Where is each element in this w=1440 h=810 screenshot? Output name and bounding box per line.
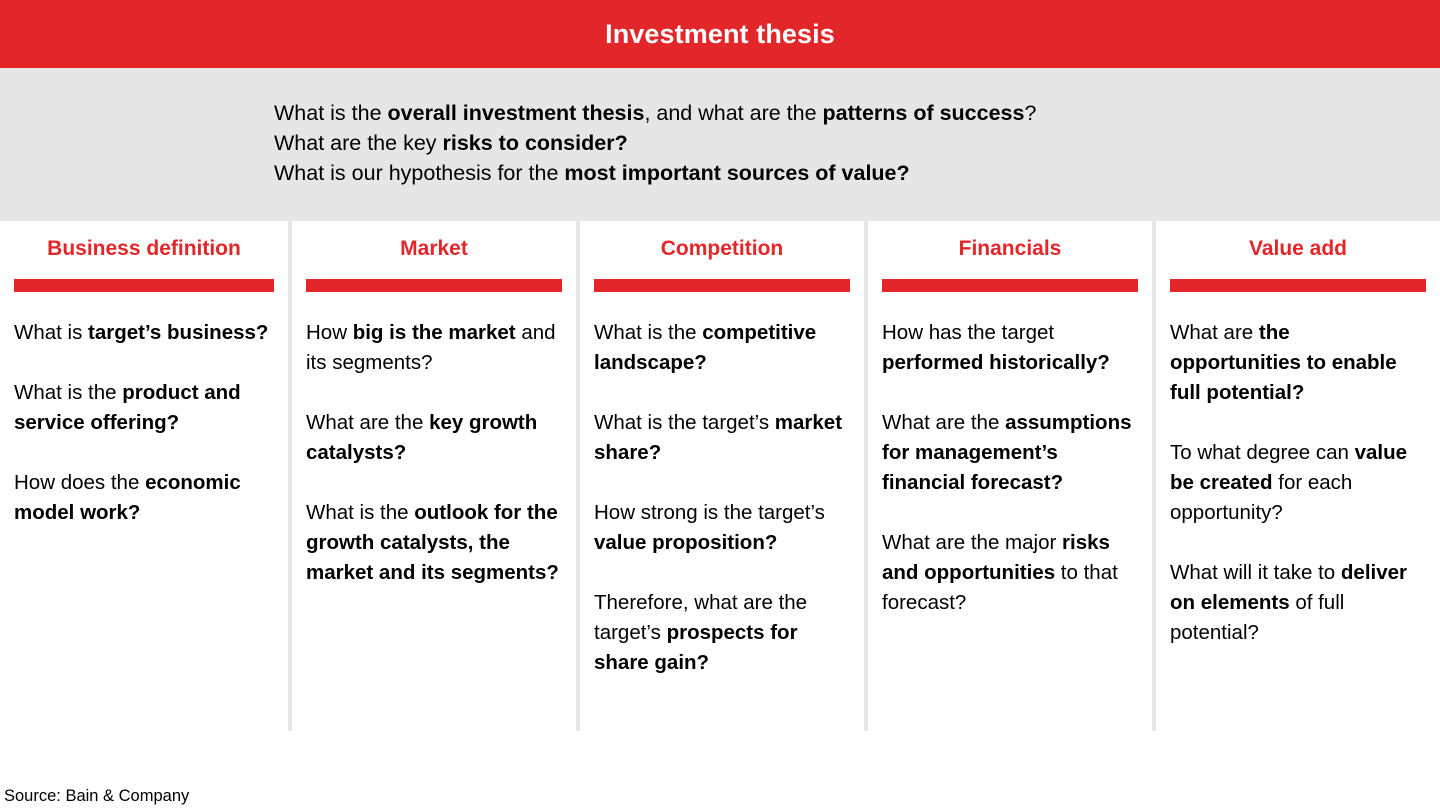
column-header: Market	[306, 221, 562, 277]
intro-question-line: What is our hypothesis for the most impo…	[274, 158, 1274, 188]
plain-text: What is the target’s	[594, 411, 775, 434]
framework-columns: Business definitionWhat is target’s busi…	[0, 221, 1440, 731]
column-question-item: Therefore, what are the target’s prospec…	[594, 588, 850, 678]
column-title: Business definition	[47, 237, 241, 260]
plain-text: How strong is the target’s	[594, 501, 825, 524]
plain-text: ?	[1024, 101, 1036, 125]
column-header: Value add	[1170, 221, 1426, 277]
column-question-list: What are the opportunities to enable ful…	[1170, 292, 1426, 648]
emphasis-text: patterns of success	[823, 101, 1025, 125]
plain-text: What are	[1170, 321, 1259, 344]
column-question-item: What is the product and service offering…	[14, 378, 274, 438]
column-title: Financials	[959, 237, 1062, 260]
emphasis-text: risks to consider?	[443, 131, 628, 155]
column-question-list: How has the target performed historicall…	[882, 292, 1138, 618]
framework-column-business-definition: Business definitionWhat is target’s busi…	[0, 221, 288, 731]
column-question-item: What are the assumptions for management’…	[882, 408, 1138, 498]
emphasis-text: big is the market	[353, 321, 516, 344]
plain-text: To what degree can	[1170, 441, 1355, 464]
column-inner: Value addWhat are the opportunities to e…	[1156, 221, 1440, 648]
intro-question-list: What is the overall investment thesis, a…	[274, 98, 1274, 188]
column-inner: CompetitionWhat is the competitive lands…	[580, 221, 864, 678]
column-question-item: How big is the market and its segments?	[306, 318, 562, 378]
column-inner: FinancialsHow has the target performed h…	[868, 221, 1152, 618]
column-question-item: What are the major risks and opportuniti…	[882, 528, 1138, 618]
column-inner: Business definitionWhat is target’s busi…	[0, 221, 288, 528]
plain-text: What is the	[594, 321, 702, 344]
framework-column-market: MarketHow big is the market and its segm…	[288, 221, 576, 731]
column-accent-rule	[882, 279, 1138, 292]
column-question-list: How big is the market and its segments?W…	[306, 292, 562, 588]
column-title: Competition	[661, 237, 783, 260]
column-question-item: What are the opportunities to enable ful…	[1170, 318, 1426, 408]
column-question-item: What is the outlook for the growth catal…	[306, 498, 562, 588]
column-question-item: What will it take to deliver on elements…	[1170, 558, 1426, 648]
plain-text: How has the target	[882, 321, 1054, 344]
page-title: Investment thesis	[605, 21, 835, 48]
plain-text: What is the	[274, 101, 388, 125]
plain-text: What is	[14, 321, 88, 344]
framework-column-value-add: Value addWhat are the opportunities to e…	[1152, 221, 1440, 731]
column-inner: MarketHow big is the market and its segm…	[292, 221, 576, 588]
plain-text: What are the key	[274, 131, 443, 155]
column-question-item: How does the economic model work?	[14, 468, 274, 528]
slide-root: Investment thesis What is the overall in…	[0, 0, 1440, 810]
plain-text: What will it take to	[1170, 561, 1341, 584]
emphasis-text: value proposition?	[594, 531, 777, 554]
source-note: Source: Bain & Company	[4, 786, 189, 806]
column-header: Financials	[882, 221, 1138, 277]
plain-text: What is our hypothesis for the	[274, 161, 564, 185]
column-accent-rule	[1170, 279, 1426, 292]
column-question-item: How strong is the target’s value proposi…	[594, 498, 850, 558]
framework-column-financials: FinancialsHow has the target performed h…	[864, 221, 1152, 731]
emphasis-text: overall investment thesis	[388, 101, 645, 125]
emphasis-text: most important sources of value?	[564, 161, 909, 185]
plain-text: What are the major	[882, 531, 1062, 554]
column-title: Value add	[1249, 237, 1347, 260]
column-question-item: What is the target’s market share?	[594, 408, 850, 468]
plain-text: What are the	[306, 411, 429, 434]
intro-question-line: What are the key risks to consider?	[274, 128, 1274, 158]
column-question-list: What is the competitive landscape?What i…	[594, 292, 850, 678]
column-question-list: What is target’s business?What is the pr…	[14, 292, 274, 528]
plain-text: How	[306, 321, 353, 344]
plain-text: , and what are the	[644, 101, 822, 125]
plain-text: What is the	[14, 381, 122, 404]
plain-text: What are the	[882, 411, 1005, 434]
intro-question-band: What is the overall investment thesis, a…	[0, 68, 1440, 221]
framework-column-competition: CompetitionWhat is the competitive lands…	[576, 221, 864, 731]
column-title: Market	[400, 237, 468, 260]
column-header: Competition	[594, 221, 850, 277]
column-question-item: How has the target performed historicall…	[882, 318, 1138, 378]
emphasis-text: performed historically?	[882, 351, 1110, 374]
column-accent-rule	[306, 279, 562, 292]
emphasis-text: target’s business?	[88, 321, 268, 344]
column-question-item: What are the key growth catalysts?	[306, 408, 562, 468]
slide-title-bar: Investment thesis	[0, 0, 1440, 68]
column-accent-rule	[14, 279, 274, 292]
intro-question-line: What is the overall investment thesis, a…	[274, 98, 1274, 128]
column-question-item: What is target’s business?	[14, 318, 274, 348]
column-accent-rule	[594, 279, 850, 292]
plain-text: What is the	[306, 501, 414, 524]
plain-text: How does the	[14, 471, 145, 494]
column-header: Business definition	[14, 221, 274, 277]
column-question-item: What is the competitive landscape?	[594, 318, 850, 378]
column-question-item: To what degree can value be created for …	[1170, 438, 1426, 528]
